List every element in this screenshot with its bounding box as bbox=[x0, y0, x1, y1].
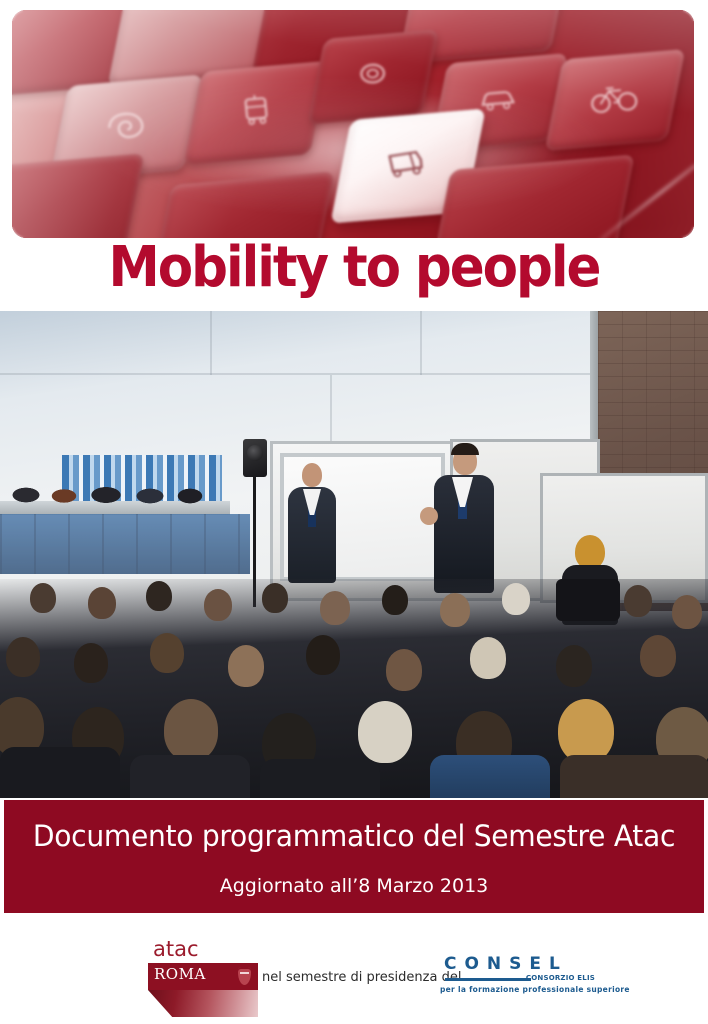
spiral-icon bbox=[314, 54, 432, 100]
spiral-icon bbox=[57, 102, 196, 153]
key-circle bbox=[307, 29, 438, 124]
semester-connector-text: nel semestre di presidenza del bbox=[262, 970, 461, 985]
audience-head bbox=[320, 591, 350, 625]
wall-seam bbox=[210, 311, 212, 375]
audience-head bbox=[146, 581, 172, 611]
consel-wordmark: CONSEL bbox=[444, 956, 568, 973]
atac-logo: atac ROMA bbox=[148, 939, 266, 1017]
key-bicycle bbox=[545, 49, 686, 151]
audience-head bbox=[440, 593, 470, 627]
conference-photo bbox=[0, 311, 708, 798]
audience-head bbox=[262, 583, 288, 613]
audience-head bbox=[164, 699, 218, 761]
audience-head bbox=[6, 637, 40, 677]
key-tram bbox=[183, 61, 328, 165]
atac-bar: ROMA bbox=[148, 963, 258, 990]
audience-head bbox=[640, 635, 676, 677]
audience-body bbox=[0, 747, 120, 798]
standing-presenter-head bbox=[302, 463, 322, 487]
audience-head bbox=[382, 585, 408, 615]
audience-head bbox=[624, 585, 652, 617]
document-subtitle: Aggiornato all’8 Marzo 2013 bbox=[4, 851, 704, 896]
audience-body bbox=[560, 755, 708, 798]
speaker-cone-icon bbox=[247, 445, 263, 461]
audience-body bbox=[260, 759, 380, 798]
cover-tagline: Mobility to people bbox=[28, 240, 679, 296]
atac-wordmark: atac bbox=[153, 939, 199, 960]
wall-seam bbox=[420, 311, 422, 375]
consel-rule bbox=[445, 978, 531, 981]
seated-woman-head bbox=[575, 535, 605, 569]
audience-head bbox=[30, 583, 56, 613]
audience-head bbox=[306, 635, 340, 675]
consel-logo: CONSEL CONSORZIO ELIS per la formazione … bbox=[440, 956, 595, 998]
tram-icon bbox=[191, 88, 321, 139]
document-title: Documento programmatico del Semestre Ata… bbox=[15, 800, 694, 851]
audience-body-blue bbox=[430, 755, 550, 798]
atac-ribbon-tail bbox=[148, 990, 258, 1017]
audience-head bbox=[150, 633, 184, 673]
rome-crest-icon bbox=[238, 967, 251, 985]
audience-head bbox=[386, 649, 422, 691]
wall-seam bbox=[0, 373, 600, 375]
consel-tagline: per la formazione professionale superior… bbox=[440, 986, 630, 994]
bags-on-ledge bbox=[8, 479, 223, 505]
footer-logos: atac ROMA nel semestre di presidenza del… bbox=[0, 925, 708, 1024]
document-cover-page: Mobility to people bbox=[0, 0, 708, 1024]
main-speaker-hand bbox=[420, 507, 438, 525]
audience-head bbox=[88, 587, 116, 619]
audience-head bbox=[672, 595, 702, 629]
consel-consortium-label: CONSORZIO ELIS bbox=[526, 975, 595, 982]
header-keyboard-image bbox=[12, 10, 694, 238]
audience-head bbox=[74, 643, 108, 683]
audience-head bbox=[556, 645, 592, 687]
audience-body bbox=[130, 755, 250, 798]
chair-back bbox=[556, 579, 620, 621]
bicycle-icon bbox=[552, 77, 678, 123]
audience-head bbox=[358, 701, 412, 763]
key-blank-5 bbox=[12, 153, 145, 238]
audience-head bbox=[228, 645, 264, 687]
audience-head bbox=[470, 637, 506, 679]
atac-city-label: ROMA bbox=[154, 967, 206, 982]
audience-head bbox=[204, 589, 232, 621]
audience-head bbox=[502, 583, 530, 615]
audience-head bbox=[558, 699, 614, 763]
blue-display-boards bbox=[0, 514, 250, 574]
title-banner: Documento programmatico del Semestre Ata… bbox=[4, 800, 704, 913]
